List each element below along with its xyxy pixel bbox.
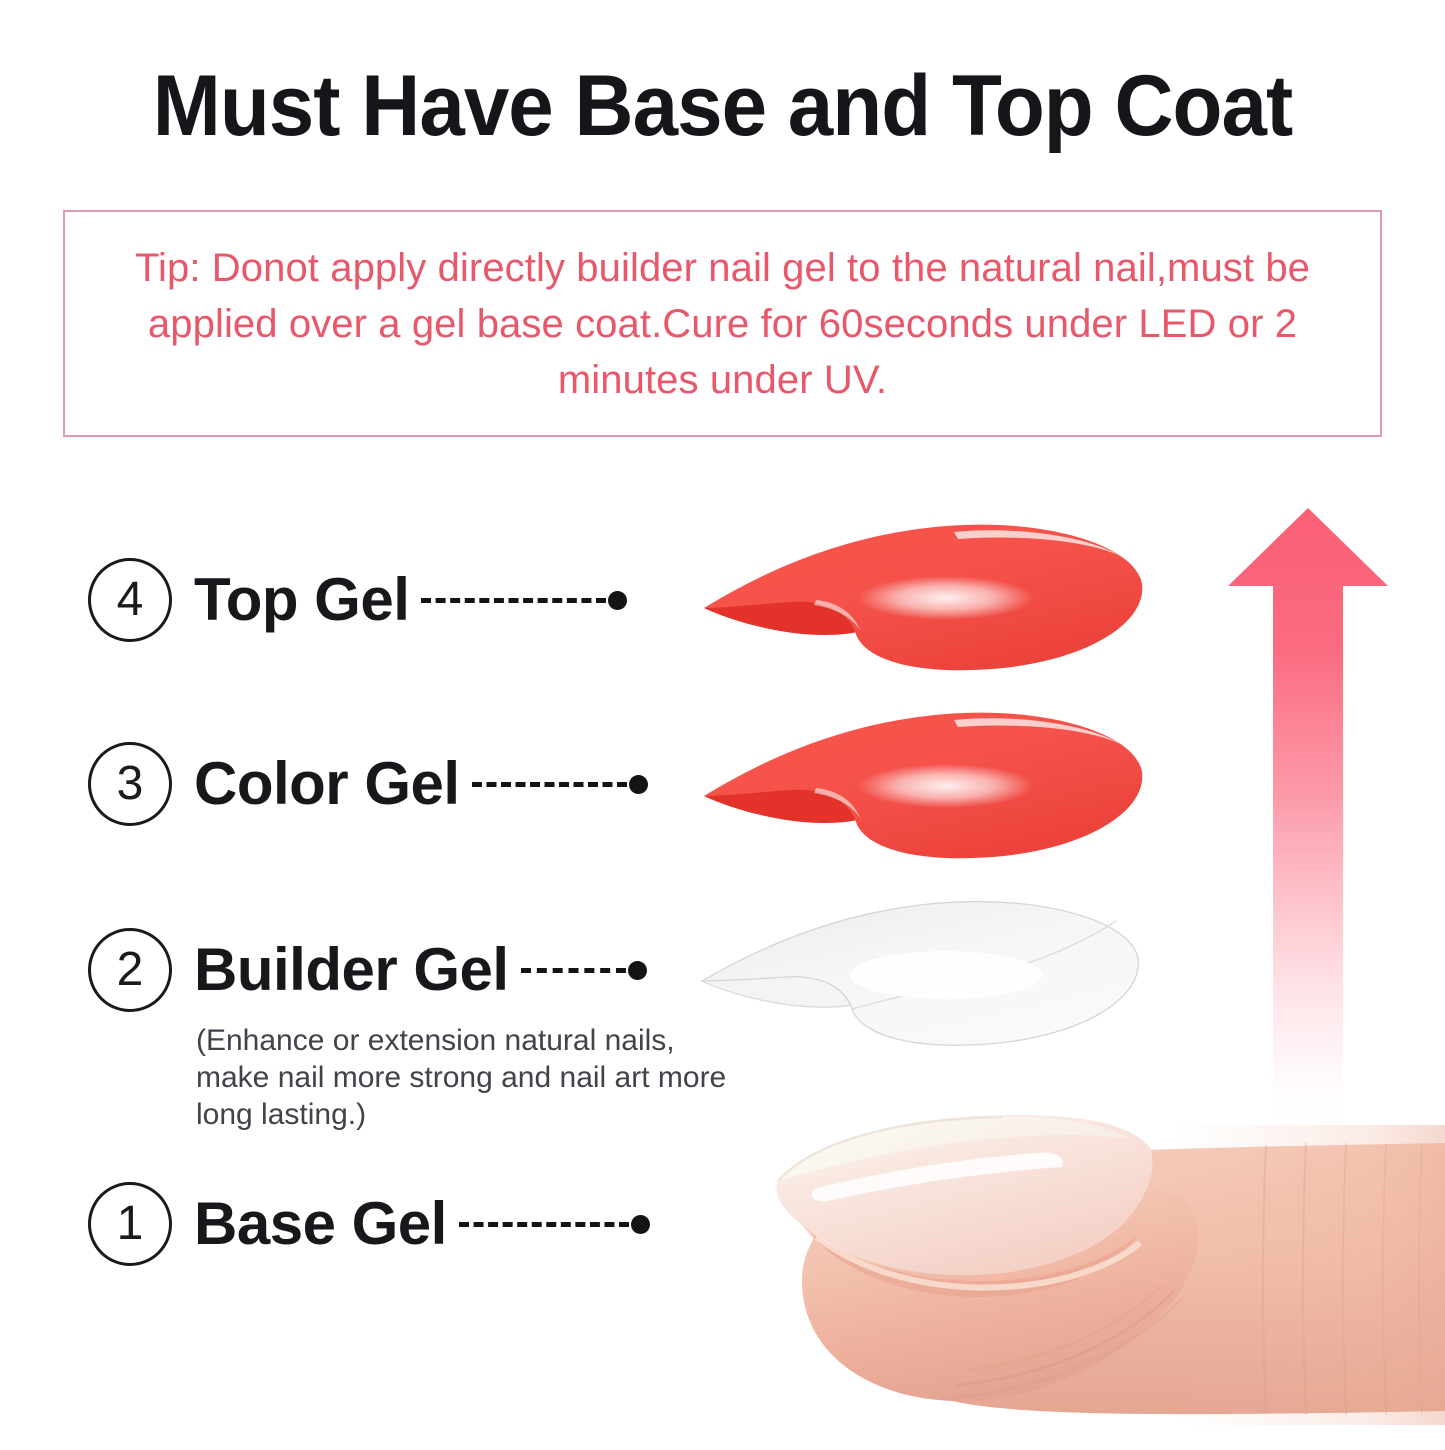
infographic-page: Must Have Base and Top Coat Tip: Donot a… xyxy=(0,0,1445,1445)
step-row-builder-gel: 2 Builder Gel xyxy=(88,928,647,1012)
connector-color-gel xyxy=(472,775,648,794)
dashed-leader-line xyxy=(521,968,626,973)
upward-layering-arrow xyxy=(1222,500,1394,1140)
step-number-circle-4: 4 xyxy=(88,558,172,642)
connector-top-gel xyxy=(421,591,627,610)
tip-box: Tip: Donot apply directly builder nail g… xyxy=(63,210,1382,437)
step-label-builder-gel: Builder Gel xyxy=(194,940,509,1000)
tip-text: Tip: Donot apply directly builder nail g… xyxy=(123,240,1323,408)
step-number-2: 2 xyxy=(117,946,144,994)
step-number-circle-2: 2 xyxy=(88,928,172,1012)
top-gel-swatch xyxy=(696,512,1148,682)
natural-fingernail-photo xyxy=(706,1085,1445,1445)
step-number-3: 3 xyxy=(117,760,144,808)
step-row-base-gel: 1 Base Gel xyxy=(88,1182,650,1266)
builder-gel-swatch xyxy=(696,893,1156,1056)
builder-gel-note: (Enhance or extension natural nails, mak… xyxy=(196,1022,741,1133)
connector-base-gel xyxy=(459,1215,650,1234)
leader-end-dot xyxy=(629,775,648,794)
step-number-1: 1 xyxy=(117,1200,144,1248)
step-number-4: 4 xyxy=(117,576,144,624)
step-label-base-gel: Base Gel xyxy=(194,1194,447,1254)
step-row-top-gel: 4 Top Gel xyxy=(88,558,627,642)
dashed-leader-line xyxy=(421,598,606,603)
step-row-color-gel: 3 Color Gel xyxy=(88,742,648,826)
step-label-color-gel: Color Gel xyxy=(194,754,460,814)
leader-end-dot xyxy=(608,591,627,610)
dashed-leader-line xyxy=(472,782,627,787)
page-title: Must Have Base and Top Coat xyxy=(36,58,1409,154)
connector-builder-gel xyxy=(521,961,647,980)
dashed-leader-line xyxy=(459,1222,629,1227)
step-number-circle-1: 1 xyxy=(88,1182,172,1266)
leader-end-dot xyxy=(631,1215,650,1234)
color-gel-swatch xyxy=(696,700,1148,870)
step-label-top-gel: Top Gel xyxy=(194,570,409,630)
step-number-circle-3: 3 xyxy=(88,742,172,826)
leader-end-dot xyxy=(628,961,647,980)
